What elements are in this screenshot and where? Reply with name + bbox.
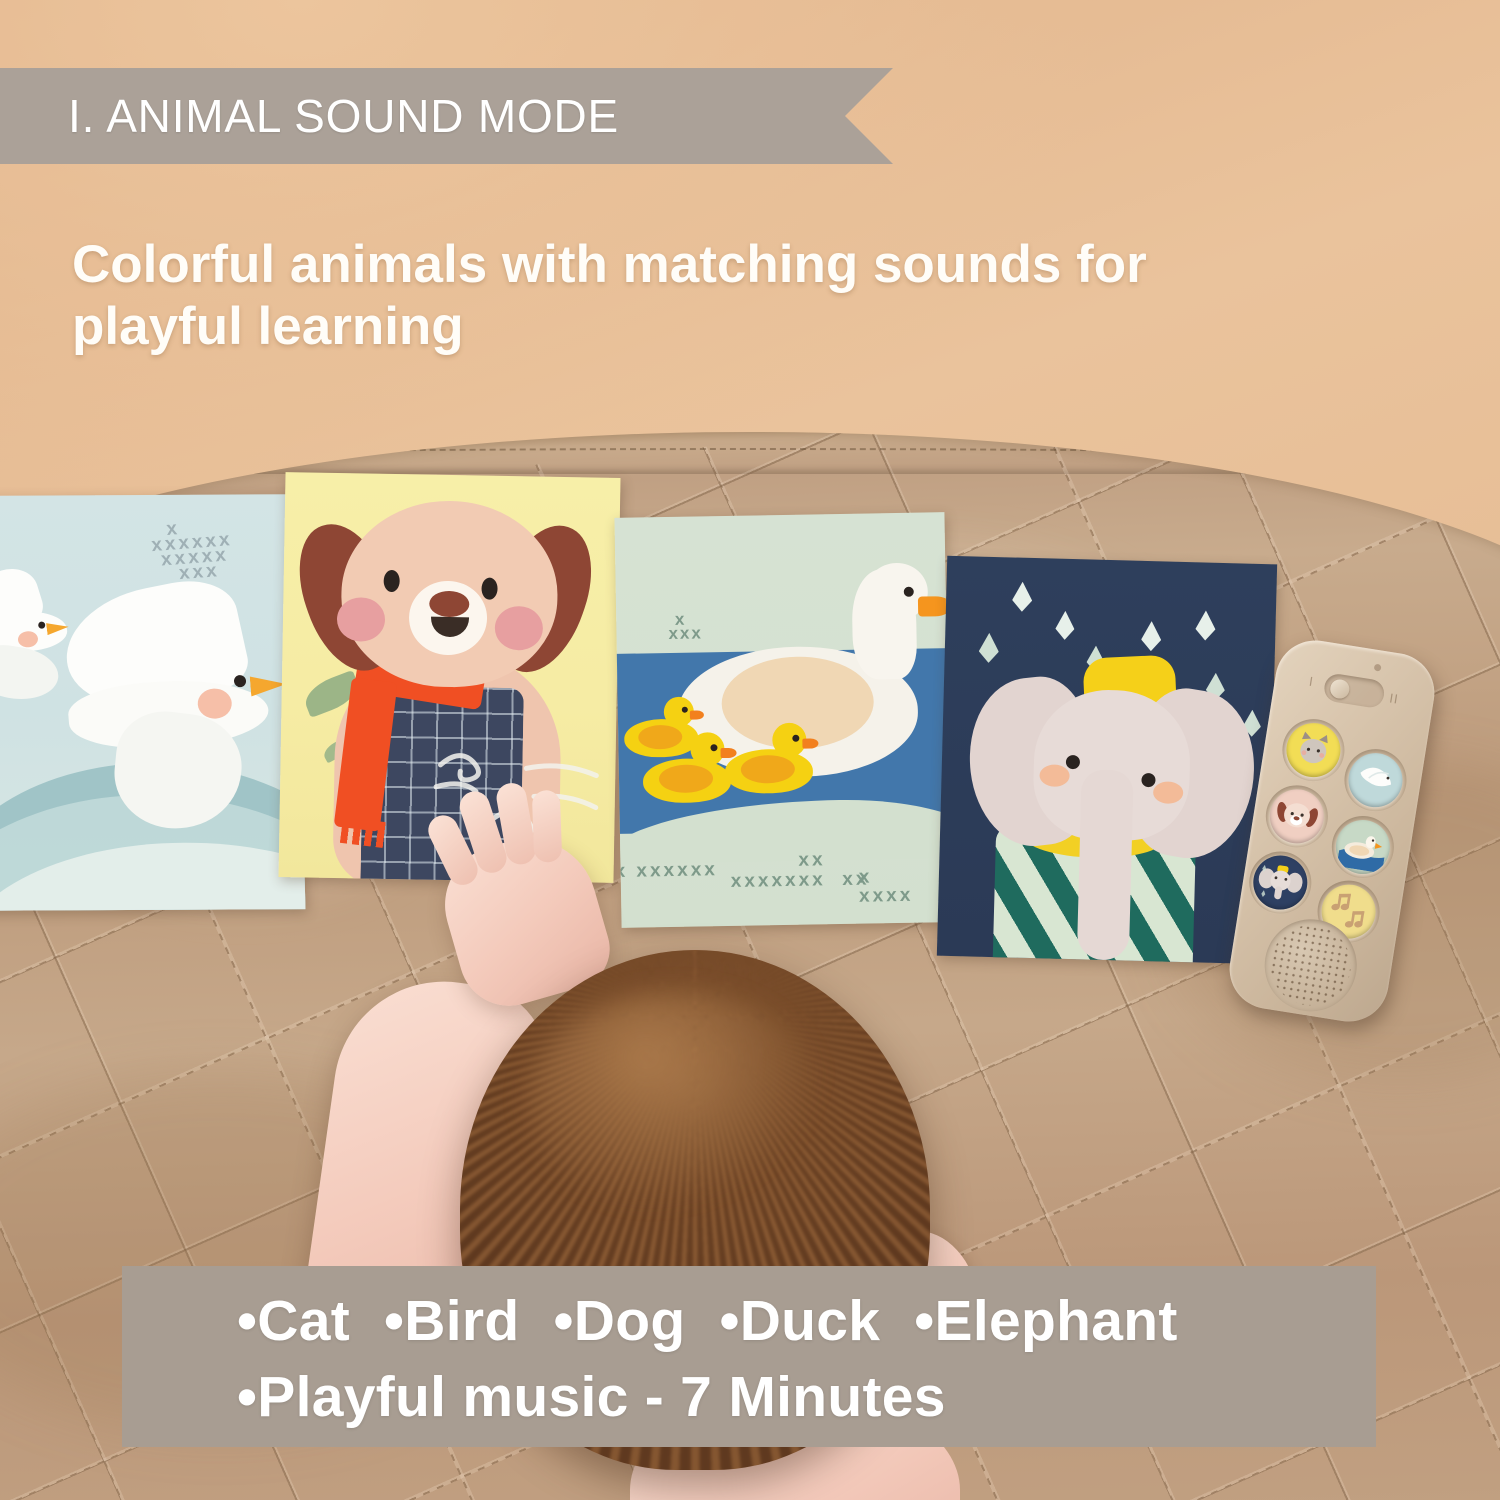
cat-icon bbox=[1291, 729, 1336, 771]
elephant-trunk bbox=[1077, 769, 1134, 960]
duckling bbox=[724, 722, 815, 796]
music-duration: •Playful music - 7 Minutes bbox=[237, 1365, 946, 1429]
bird-icon bbox=[1353, 760, 1398, 800]
feature-bird: •Bird bbox=[384, 1289, 519, 1353]
duckling bbox=[642, 732, 733, 806]
bird-page[interactable]: xxxxxxx xxxxx xxx bbox=[0, 494, 305, 911]
dog-nose bbox=[429, 591, 469, 618]
switch-knob[interactable] bbox=[1329, 678, 1351, 700]
raindrop-icon bbox=[979, 633, 1000, 664]
section-banner: I. ANIMAL SOUND MODE bbox=[0, 68, 893, 164]
feature-dog: •Dog bbox=[553, 1289, 685, 1353]
dog-icon bbox=[1273, 796, 1320, 836]
raindrop-icon bbox=[1195, 610, 1216, 641]
subtitle-line-1: Colorful animals with matching sounds fo… bbox=[72, 234, 1302, 296]
feature-list: •Cat•Bird•Dog•Duck•Elephant bbox=[237, 1284, 1376, 1360]
elephant-icon bbox=[1256, 860, 1305, 904]
raindrop-icon bbox=[1012, 581, 1033, 612]
feature-caption-box: •Cat•Bird•Dog•Duck•Elephant •Playful mus… bbox=[122, 1266, 1376, 1447]
cross-stitch-cluster: xxxxxxx xxxxx xxx bbox=[149, 514, 274, 585]
switch-mark-right: II bbox=[1388, 690, 1399, 706]
baby-finger bbox=[532, 790, 562, 863]
raindrop-icon bbox=[1141, 621, 1162, 652]
hair-highlight bbox=[526, 992, 827, 1210]
raindrop-icon bbox=[1055, 611, 1075, 640]
speaker-holes bbox=[1265, 920, 1357, 1012]
bird-large bbox=[52, 574, 302, 847]
led-indicator bbox=[1374, 664, 1382, 672]
feature-elephant: •Elephant bbox=[914, 1289, 1177, 1353]
feature-duck: •Duck bbox=[719, 1289, 880, 1353]
subtitle: Colorful animals with matching sounds fo… bbox=[72, 234, 1302, 358]
feature-cat: •Cat bbox=[237, 1289, 350, 1353]
duck-icon bbox=[1337, 821, 1390, 874]
power-switch[interactable] bbox=[1322, 672, 1386, 709]
music-duration-line: •Playful music - 7 Minutes bbox=[237, 1360, 1376, 1436]
banner-title: I. ANIMAL SOUND MODE bbox=[0, 89, 619, 143]
switch-mark-left: I bbox=[1308, 674, 1315, 690]
subtitle-line-2: playful learning bbox=[72, 296, 1302, 358]
